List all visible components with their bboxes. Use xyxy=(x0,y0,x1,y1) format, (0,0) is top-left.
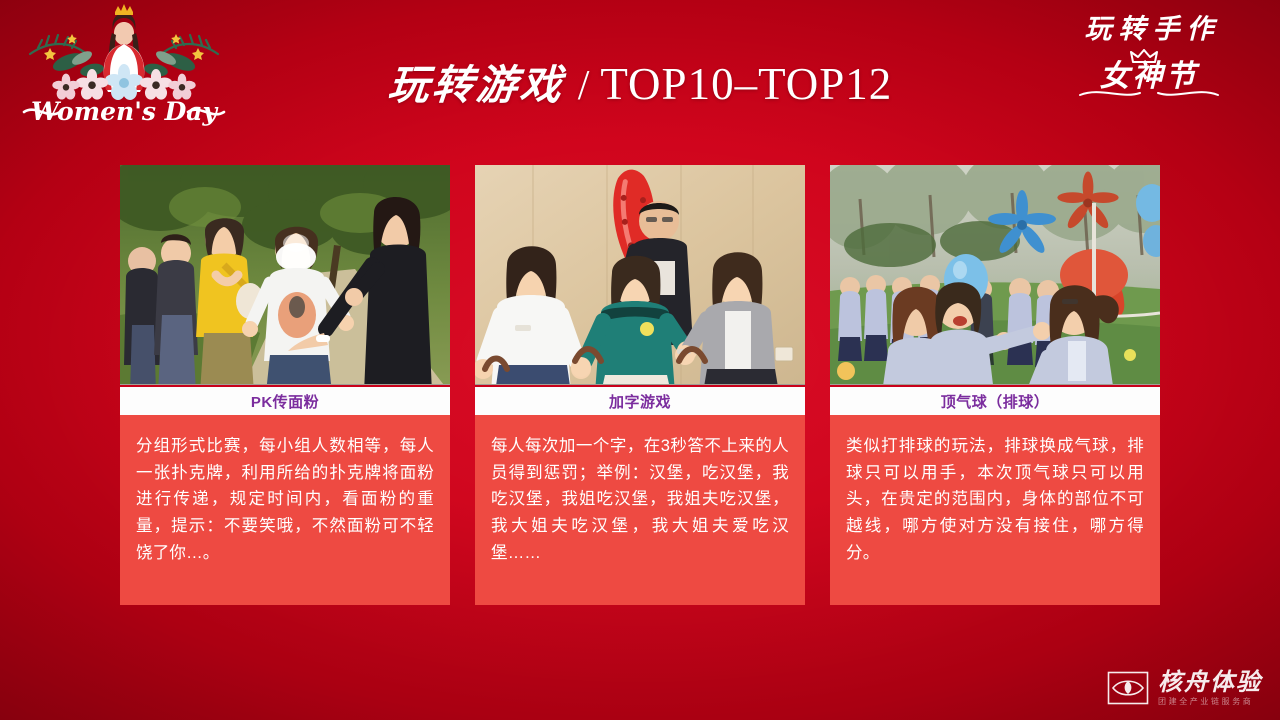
brand-line1: 玩转手作 xyxy=(1044,16,1254,43)
game-card-body: 每人每次加一个字，在3秒答不上来的人员得到惩罚；举例：汉堡，吃汉堡，我吃汉堡，我… xyxy=(475,415,805,605)
footer-watermark: 核舟体验 团建全产业链服务商 xyxy=(1107,670,1262,706)
brand-line2: 女神节 xyxy=(1044,61,1254,93)
brand-lockup: 玩转手作 女神节 xyxy=(1044,16,1254,132)
page-title-latin: TOP10–TOP12 xyxy=(600,59,892,109)
game-card[interactable]: PK传面粉 分组形式比赛，每小组人数相等，每人一张扑克牌，利用所给的扑克牌将面粉… xyxy=(120,165,450,605)
watermark-name: 核舟体验 xyxy=(1158,670,1262,694)
slide-canvas: Women's Day 玩转游戏/TOP10–TOP12 玩转手作 女神节 xyxy=(0,0,1280,720)
page-title-separator: / xyxy=(564,65,601,107)
game-card-title: 顶气球（排球） xyxy=(830,385,1160,415)
game-card-title: 加字游戏 xyxy=(475,385,805,415)
game-card-title: PK传面粉 xyxy=(120,385,450,415)
game-card-list: PK传面粉 分组形式比赛，每小组人数相等，每人一张扑克牌，利用所给的扑克牌将面粉… xyxy=(0,165,1280,605)
game-card[interactable]: 加字游戏 每人每次加一个字，在3秒答不上来的人员得到惩罚；举例：汉堡，吃汉堡，我… xyxy=(475,165,805,605)
eye-logo-mark xyxy=(1107,671,1149,705)
womens-day-floral-emblem: Women's Day xyxy=(8,0,240,132)
womens-day-script-label: Women's Day xyxy=(31,97,219,126)
photo-flour-pass-game xyxy=(120,165,450,385)
page-title-chinese: 玩转游戏 xyxy=(386,65,566,106)
watermark-tagline: 团建全产业链服务商 xyxy=(1158,698,1253,706)
photo-balloon-volleyball-game xyxy=(830,165,1160,385)
photo-word-adding-game xyxy=(475,165,805,385)
game-card-body: 分组形式比赛，每小组人数相等，每人一张扑克牌，利用所给的扑克牌将面粉进行传递，规… xyxy=(120,415,450,605)
game-card-body: 类似打排球的玩法，排球换成气球，排球只可以用手，本次顶气球只可以用头，在贵定的范… xyxy=(830,415,1160,605)
game-card[interactable]: 顶气球（排球） 类似打排球的玩法，排球换成气球，排球只可以用手，本次顶气球只可以… xyxy=(830,165,1160,605)
